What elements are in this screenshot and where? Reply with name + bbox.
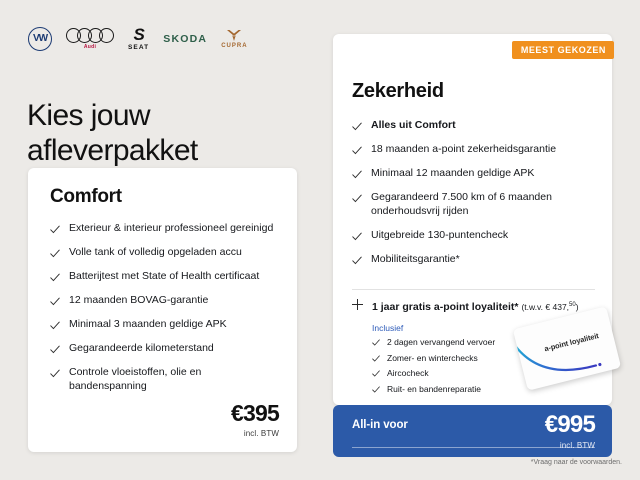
feature-label: Exterieur & interieur professioneel gere… <box>69 222 273 236</box>
feature-label: Gegarandeerde kilometerstand <box>69 342 214 356</box>
audi-wordmark: Audi <box>84 44 96 50</box>
check-icon <box>50 345 60 355</box>
allin-label: All-in voor <box>352 419 408 431</box>
feature-label: 18 maanden a-point zekerheidsgarantie <box>371 143 556 157</box>
list-item: 18 maanden a-point zekerheidsgarantie <box>352 143 602 157</box>
allin-price-amount: €995 <box>545 413 595 437</box>
list-item: Volle tank of volledig opgeladen accu <box>50 246 278 260</box>
list-item: Gegarandeerd 7.500 km of 6 maanden onder… <box>352 191 602 219</box>
skoda-logo-icon: SKODA <box>163 33 207 45</box>
skoda-wordmark: SKODA <box>163 33 207 45</box>
feature-label: Batterijtest met State of Health certifi… <box>69 270 259 284</box>
comfort-feature-list: Exterieur & interieur professioneel gere… <box>50 222 278 404</box>
check-icon <box>372 370 380 378</box>
inclusief-label-item: Zomer- en winterchecks <box>387 353 478 364</box>
loyalty-value-suffix: ) <box>576 302 579 312</box>
comfort-price-block: €395 incl. BTW <box>231 402 279 438</box>
allin-price-block: €995 incl. BTW <box>545 413 595 450</box>
feature-label: Uitgebreide 130-puntencheck <box>371 229 508 243</box>
page-title: Kies jouw afleverpakket <box>27 98 307 168</box>
promo-poster: VW Audi S SEAT SKODA CUPRA Kies jouw afl… <box>0 0 640 480</box>
check-icon <box>50 369 60 379</box>
list-item: Exterieur & interieur professioneel gere… <box>50 222 278 236</box>
comfort-price-note: incl. BTW <box>231 429 279 438</box>
check-icon <box>50 273 60 283</box>
comfort-price-amount: €395 <box>231 402 279 425</box>
list-item: Minimaal 12 maanden geldige APK <box>352 167 602 181</box>
feature-label: Alles uit Comfort <box>371 119 456 133</box>
cupra-logo-icon: CUPRA <box>221 29 247 49</box>
check-icon <box>50 225 60 235</box>
check-icon <box>372 355 380 363</box>
loyalty-value-prefix: (t.w.v. € 437, <box>521 302 569 312</box>
list-item: Alles uit Comfort <box>352 119 602 133</box>
list-item: Controle vloeistoffen, olie en bandenspa… <box>50 366 278 394</box>
check-icon <box>352 232 362 242</box>
check-icon <box>352 122 362 132</box>
feature-label: Controle vloeistoffen, olie en bandenspa… <box>69 366 278 394</box>
package-card-comfort[interactable]: Comfort Exterieur & interieur profession… <box>28 168 297 452</box>
feature-label: Minimaal 12 maanden geldige APK <box>371 167 534 181</box>
status-badge: MEEST GEKOZEN <box>512 41 614 59</box>
list-item: 12 maanden BOVAG-garantie <box>50 294 278 308</box>
volkswagen-logo-icon: VW <box>28 27 52 51</box>
feature-label: Gegarandeerd 7.500 km of 6 maanden onder… <box>371 191 602 219</box>
inclusief-label-item: 2 dagen vervangend vervoer <box>387 337 495 348</box>
list-item: Gegarandeerde kilometerstand <box>50 342 278 356</box>
list-item: Mobiliteitsgarantie* <box>352 253 602 267</box>
seat-logo-icon: S SEAT <box>128 27 149 51</box>
check-icon <box>50 321 60 331</box>
allin-price-panel[interactable]: All-in voor €995 incl. BTW <box>333 405 612 457</box>
check-icon <box>372 386 380 394</box>
inclusief-label-item: Ruit- en bandenreparatie <box>387 384 481 395</box>
comfort-title: Comfort <box>50 186 122 208</box>
loyalty-title: 1 jaar gratis a-point loyaliteit* <box>372 301 518 313</box>
feature-label: Volle tank of volledig opgeladen accu <box>69 246 242 260</box>
zekerheid-feature-list: Alles uit Comfort 18 maanden a-point zek… <box>352 119 602 277</box>
check-icon <box>50 249 60 259</box>
list-item: Ruit- en bandenreparatie <box>372 384 552 395</box>
footnote: *Vraag naar de voorwaarden. <box>531 459 622 466</box>
cupra-wordmark: CUPRA <box>221 43 247 49</box>
allin-price-note: incl. BTW <box>545 441 595 450</box>
loyalty-value-cents: 50 <box>569 302 576 308</box>
plus-icon <box>352 299 363 310</box>
feature-label: Minimaal 3 maanden geldige APK <box>69 318 227 332</box>
list-item: Minimaal 3 maanden geldige APK <box>50 318 278 332</box>
check-icon <box>372 339 380 347</box>
loyalty-offer-row: 1 jaar gratis a-point loyaliteit*(t.w.v.… <box>352 297 602 315</box>
seat-wordmark: SEAT <box>128 44 149 51</box>
check-icon <box>50 297 60 307</box>
check-icon <box>352 170 362 180</box>
feature-label: 12 maanden BOVAG-garantie <box>69 294 208 308</box>
brand-logo-bar: VW Audi S SEAT SKODA CUPRA <box>28 26 248 52</box>
list-item: Batterijtest met State of Health certifi… <box>50 270 278 284</box>
inclusief-label: Inclusief <box>372 323 403 333</box>
check-icon <box>352 146 362 156</box>
allin-divider <box>352 447 595 448</box>
section-divider <box>352 289 595 290</box>
check-icon <box>352 194 362 204</box>
list-item: Uitgebreide 130-puntencheck <box>352 229 602 243</box>
package-card-zekerheid[interactable]: MEEST GEKOZEN Zekerheid Alles uit Comfor… <box>333 34 612 405</box>
loyalty-card-graphic: a-point loyaliteit <box>513 306 621 390</box>
inclusief-label-item: Aircocheck <box>387 368 429 379</box>
feature-label: Mobiliteitsgarantie* <box>371 253 460 267</box>
check-icon <box>352 256 362 266</box>
loyalty-value: (t.w.v. € 437,50) <box>521 302 578 312</box>
zekerheid-title: Zekerheid <box>352 80 444 103</box>
audi-logo-icon: Audi <box>66 28 114 50</box>
